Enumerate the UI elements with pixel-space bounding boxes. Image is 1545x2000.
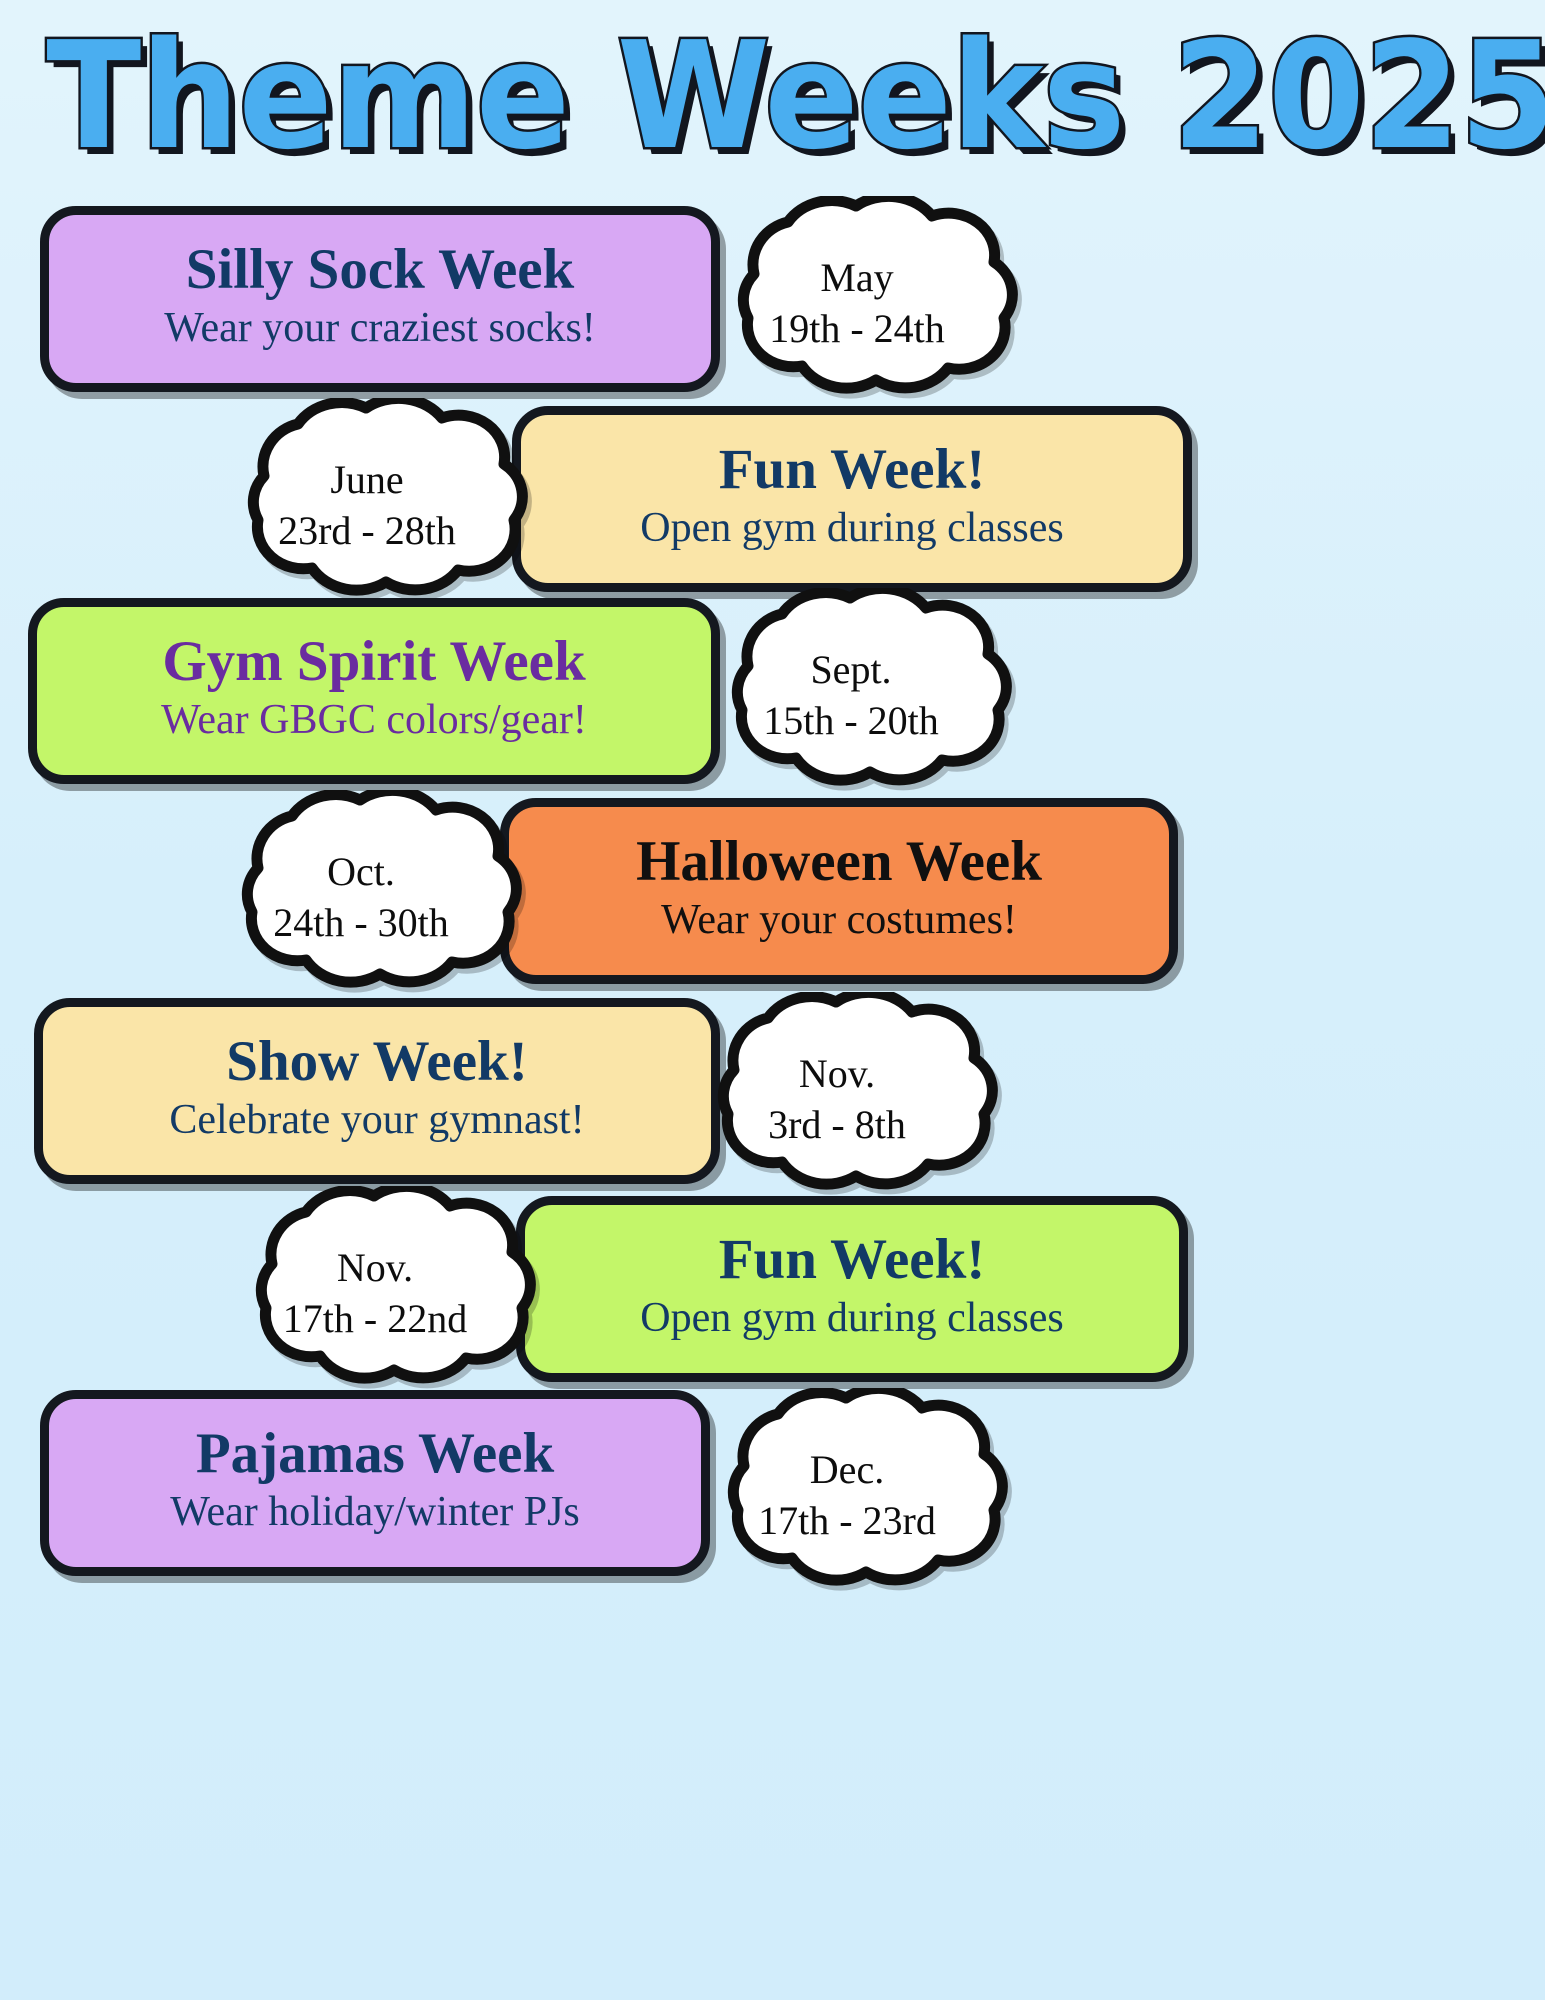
week-card-fun-week-nov: Fun Week! Open gym during classes: [516, 1196, 1188, 1382]
week-row-7: Pajamas Week Wear holiday/winter PJs Dec…: [0, 1380, 1545, 1590]
cloud-shape-icon: [680, 588, 1022, 793]
week-card-description: Wear your costumes!: [661, 898, 1017, 942]
week-card-gym-spirit: Gym Spirit Week Wear GBGC colors/gear!: [28, 598, 720, 784]
week-row-3: Gym Spirit Week Wear GBGC colors/gear! S…: [0, 588, 1545, 798]
week-card-description: Celebrate your gymnast!: [169, 1098, 584, 1142]
week-card-title: Silly Sock Week: [186, 240, 575, 300]
date-cloud-pajamas: Dec. 17th - 23rd: [676, 1388, 1018, 1593]
week-card-silly-sock: Silly Sock Week Wear your craziest socks…: [40, 206, 720, 392]
cloud-shape-icon: [686, 196, 1028, 401]
cloud-shape-icon: [196, 398, 538, 603]
date-cloud-show-week: Nov. 3rd - 8th: [666, 992, 1008, 1197]
date-cloud-halloween: Oct. 24th - 30th: [190, 790, 532, 995]
week-card-title: Pajamas Week: [196, 1424, 554, 1484]
cloud-shape-icon: [676, 1388, 1018, 1593]
week-row-5: Show Week! Celebrate your gymnast! Nov. …: [0, 988, 1545, 1198]
date-cloud-fun-week-nov: Nov. 17th - 22nd: [204, 1186, 546, 1391]
page-title: Theme Weeks 2025: [46, 22, 1498, 170]
week-row-1: Silly Sock Week Wear your craziest socks…: [0, 196, 1545, 406]
week-card-halloween: Halloween Week Wear your costumes!: [500, 798, 1178, 984]
week-card-pajamas: Pajamas Week Wear holiday/winter PJs: [40, 1390, 710, 1576]
week-card-show-week: Show Week! Celebrate your gymnast!: [34, 998, 720, 1184]
week-card-description: Wear holiday/winter PJs: [170, 1490, 580, 1534]
week-row-4: Halloween Week Wear your costumes! Oct. …: [0, 788, 1545, 998]
cloud-shape-icon: [666, 992, 1008, 1197]
week-card-description: Wear GBGC colors/gear!: [161, 698, 587, 742]
date-cloud-gym-spirit: Sept. 15th - 20th: [680, 588, 1022, 793]
week-row-2: Fun Week! Open gym during classes June 2…: [0, 396, 1545, 606]
date-cloud-fun-week-june: June 23rd - 28th: [196, 398, 538, 603]
theme-weeks-poster: Theme Weeks 2025 Silly Sock Week Wear yo…: [0, 0, 1545, 2000]
week-card-description: Wear your craziest socks!: [164, 306, 596, 350]
cloud-shape-icon: [190, 790, 532, 995]
week-card-title: Gym Spirit Week: [162, 632, 585, 692]
week-card-description: Open gym during classes: [640, 506, 1063, 550]
week-card-fun-week-june: Fun Week! Open gym during classes: [512, 406, 1192, 592]
week-row-6: Fun Week! Open gym during classes Nov. 1…: [0, 1186, 1545, 1396]
week-card-title: Show Week!: [226, 1032, 527, 1092]
date-cloud-silly-sock: May 19th - 24th: [686, 196, 1028, 401]
week-card-description: Open gym during classes: [640, 1296, 1063, 1340]
week-card-title: Fun Week!: [719, 440, 986, 500]
cloud-shape-icon: [204, 1186, 546, 1391]
week-card-title: Fun Week!: [719, 1230, 986, 1290]
week-card-title: Halloween Week: [636, 832, 1042, 892]
